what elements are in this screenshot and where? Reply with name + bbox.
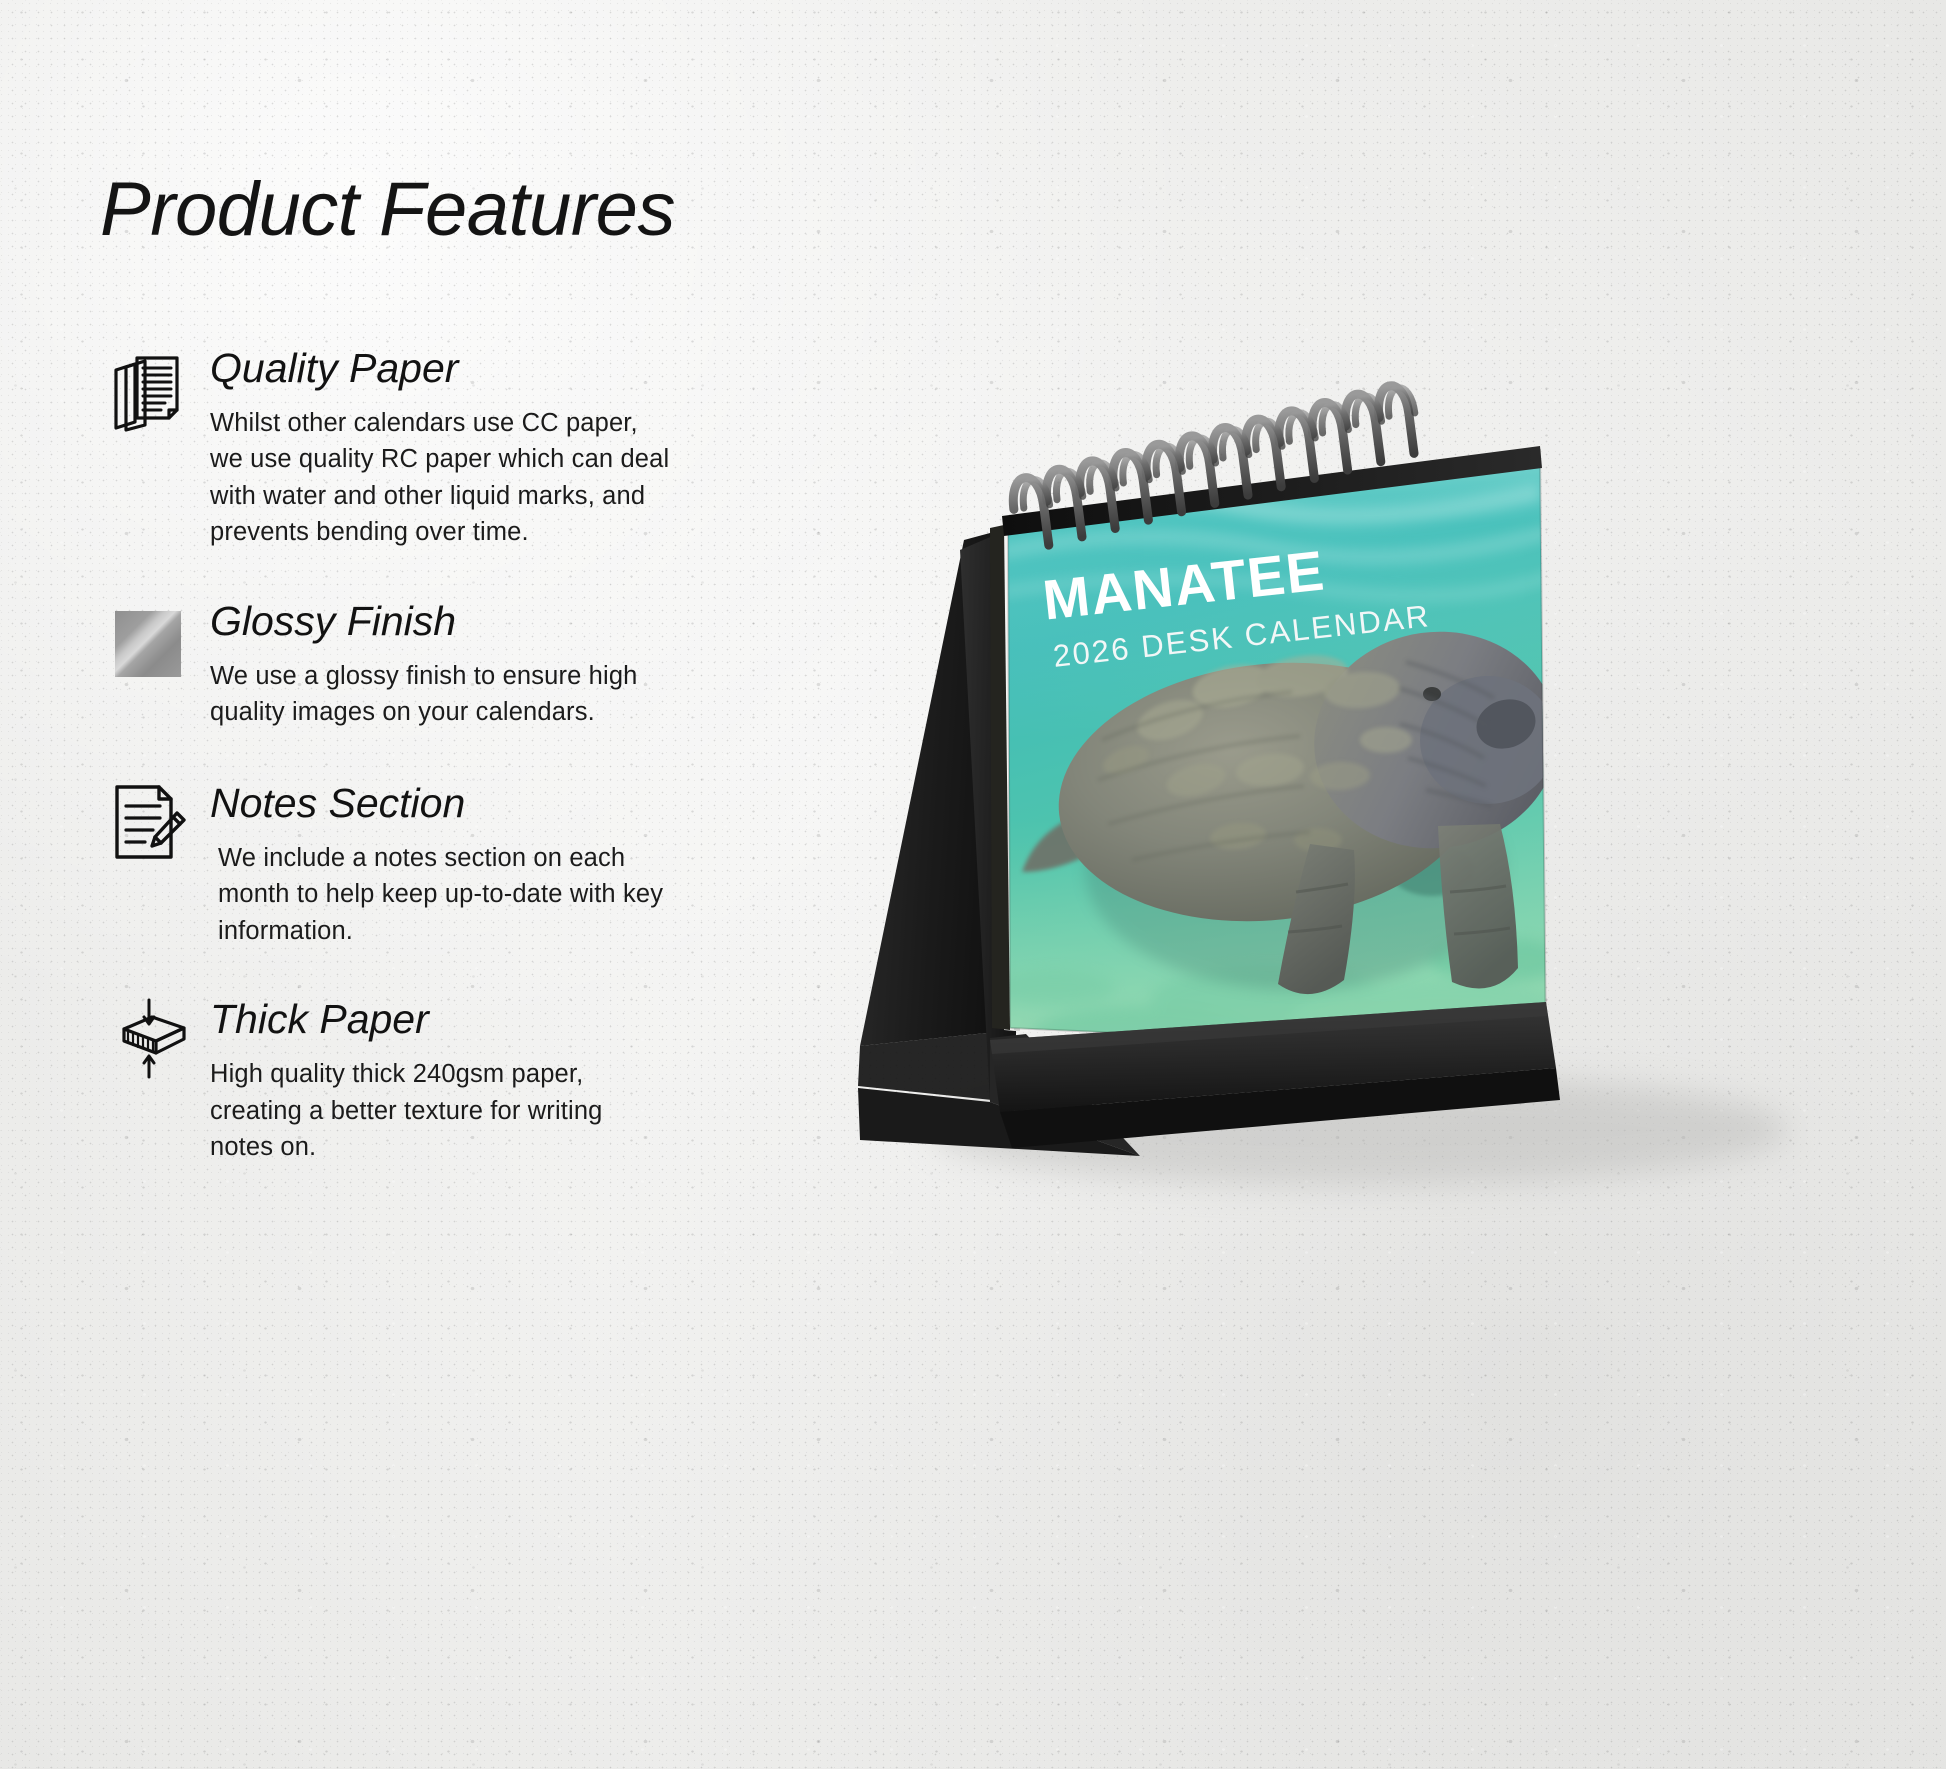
feature-heading: Thick Paper [210,997,602,1042]
page-title: Product Features [100,170,800,250]
feature-description: We include a notes section on each month… [210,840,663,949]
feature-description: We use a glossy finish to ensure high qu… [210,658,637,731]
feature-thick-paper-body: Thick Paper High quality thick 240gsm pa… [196,989,602,1165]
feature-notes-section: Notes Section We include a notes section… [100,773,800,949]
feature-thick-paper: Thick Paper High quality thick 240gsm pa… [100,989,800,1165]
feature-glossy-finish-body: Glossy Finish We use a glossy finish to … [196,595,637,731]
gloss-swatch-icon [100,595,196,691]
feature-heading: Quality Paper [210,346,669,391]
feature-heading: Notes Section [210,781,663,826]
feature-quality-paper-body: Quality Paper Whilst other calendars use… [196,342,669,551]
feature-description: Whilst other calendars use CC paper, we … [210,405,669,551]
paper-thickness-icon [100,989,196,1085]
features-column: Product Features Quality Pa [100,170,800,1206]
feature-quality-paper: Quality Paper Whilst other calendars use… [100,342,800,551]
gloss-gradient-swatch [115,611,181,677]
feature-heading: Glossy Finish [210,599,637,644]
stacked-documents-icon [100,342,196,438]
feature-notes-section-body: Notes Section We include a notes section… [196,773,663,949]
feature-glossy-finish: Glossy Finish We use a glossy finish to … [100,595,800,731]
document-pencil-icon [100,773,196,869]
feature-description: High quality thick 240gsm paper, creatin… [210,1056,602,1165]
calendar-illustration: MANATEE 2026 DESK CALENDAR [840,440,1860,1300]
desk-calendar-mockup: MANATEE 2026 DESK CALENDAR [840,440,1860,1300]
